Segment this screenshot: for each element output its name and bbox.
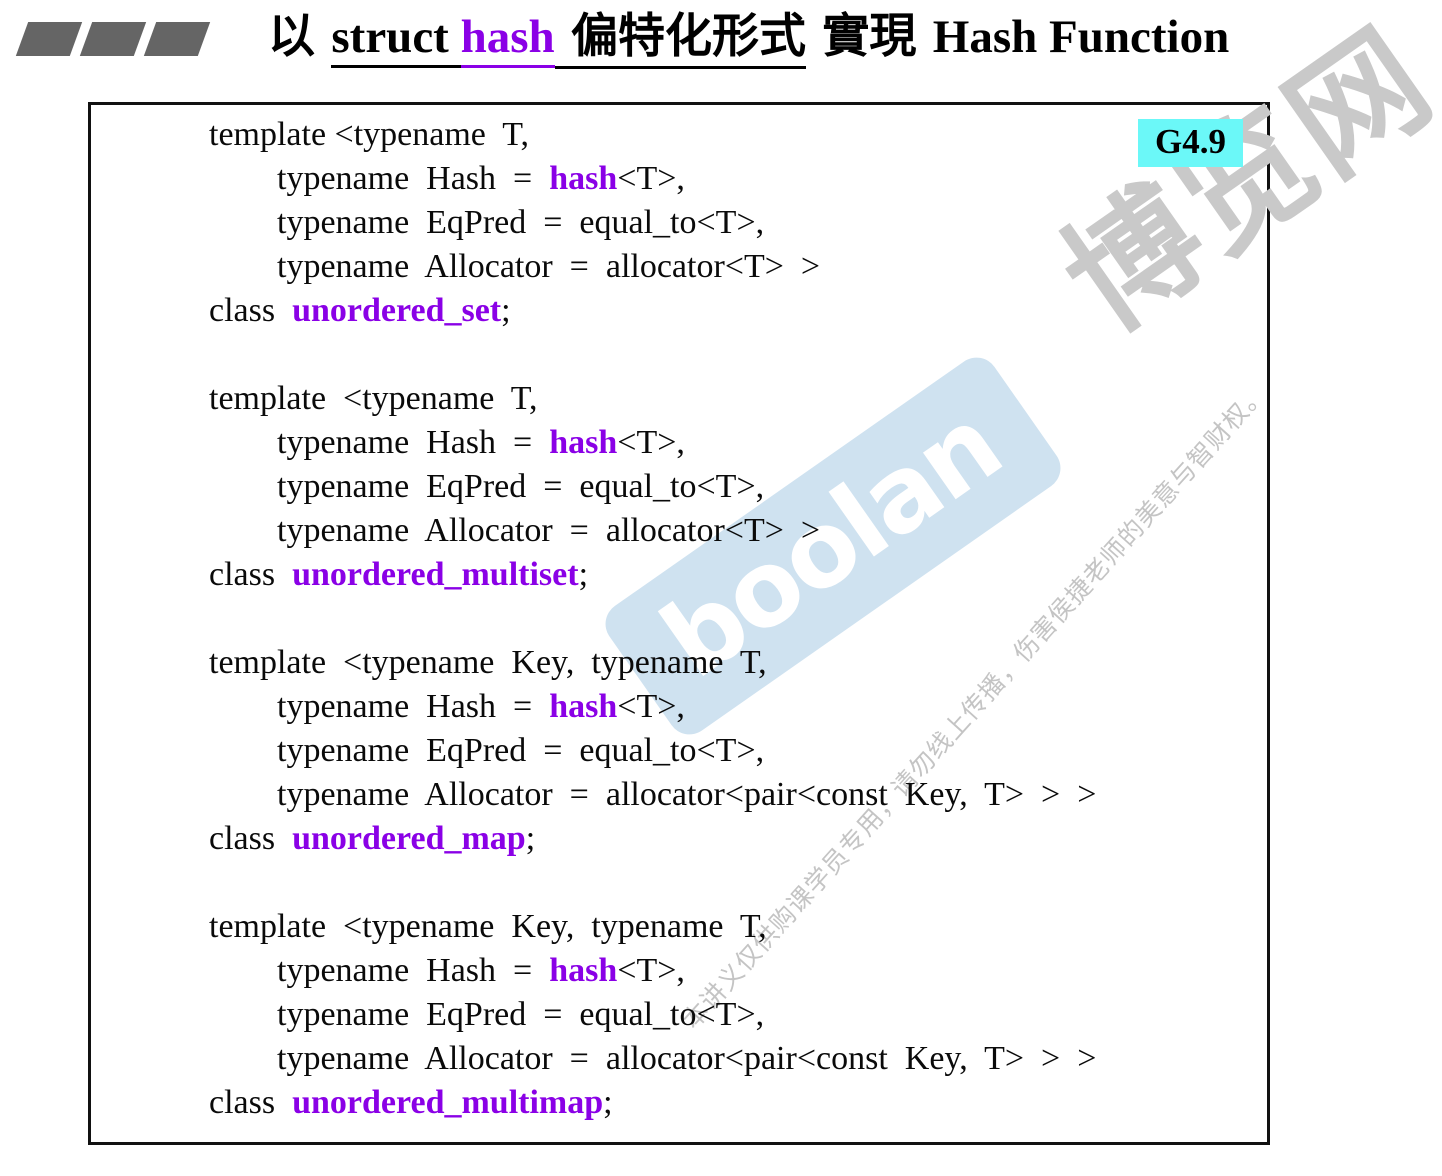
title-bullet-decoration (22, 22, 204, 56)
slide-header: 以 struct hash 偏特化形式 實現 Hash Function (0, 0, 1442, 96)
code-identifier: hash (549, 424, 617, 461)
code-identifier: unordered_map (292, 820, 526, 857)
code-line: typename Hash = hash<T>, (209, 157, 1096, 201)
bullet-square-icon (144, 22, 210, 56)
title-underlined-cjk: 偏特化形式 (555, 9, 806, 69)
code-text: class (209, 820, 292, 857)
code-line: typename Allocator = allocator<T> > (209, 509, 1096, 553)
code-identifier: unordered_set (292, 292, 501, 329)
code-text: typename Hash = (209, 952, 549, 989)
code-line: typename Allocator = allocator<pair<cons… (209, 773, 1096, 817)
code-line: class unordered_multimap; (209, 1081, 1096, 1125)
title-suffix-cjk: 實現 (806, 9, 933, 64)
code-line: typename EqPred = equal_to<T>, (209, 465, 1096, 509)
code-text: typename Hash = (209, 160, 549, 197)
code-line: template <typename T, (209, 377, 1096, 421)
code-text: class (209, 1084, 292, 1121)
page-title: 以 struct hash 偏特化形式 實現 Hash Function (268, 8, 1229, 67)
code-text: <T>, (617, 952, 685, 989)
code-text: typename Allocator = allocator<T> > (209, 248, 820, 285)
code-text: typename EqPred = equal_to<T>, (209, 732, 764, 769)
code-text: ; (526, 820, 535, 857)
code-line: class unordered_multiset; (209, 553, 1096, 597)
code-block-unordered_multiset: template <typename T, typename Hash = ha… (209, 377, 1096, 597)
code-line: typename EqPred = equal_to<T>, (209, 201, 1096, 245)
code-text: <T>, (617, 688, 685, 725)
code-line: class unordered_map; (209, 817, 1096, 861)
code-text: typename EqPred = equal_to<T>, (209, 996, 764, 1033)
code-text: ; (603, 1084, 612, 1121)
code-listing: template <typename T, typename Hash = ha… (209, 113, 1096, 1125)
code-text: <T>, (617, 160, 685, 197)
code-identifier: hash (549, 688, 617, 725)
code-text: typename Allocator = allocator<pair<cons… (209, 1040, 1096, 1077)
title-prefix: 以 (268, 9, 331, 64)
bullet-square-icon (16, 22, 82, 56)
code-block-unordered_set: template <typename T, typename Hash = ha… (209, 113, 1096, 333)
code-text: template <typename T, (209, 116, 529, 153)
title-keyword-struct: struct (331, 11, 460, 68)
bullet-square-icon (80, 22, 146, 56)
code-text: template <typename Key, typename T, (209, 908, 767, 945)
code-line: template <typename T, (209, 113, 1096, 157)
code-identifier: unordered_multiset (292, 556, 578, 593)
code-text: ; (579, 556, 588, 593)
code-line: typename Allocator = allocator<T> > (209, 245, 1096, 289)
code-line: template <typename Key, typename T, (209, 641, 1096, 685)
code-identifier: hash (549, 952, 617, 989)
code-line: template <typename Key, typename T, (209, 905, 1096, 949)
code-line: typename Hash = hash<T>, (209, 685, 1096, 729)
code-text: template <typename Key, typename T, (209, 644, 767, 681)
code-line: typename EqPred = equal_to<T>, (209, 993, 1096, 1037)
code-text: class (209, 556, 292, 593)
code-text: typename Hash = (209, 688, 549, 725)
code-text: typename EqPred = equal_to<T>, (209, 204, 764, 241)
code-block-unordered_multimap: template <typename Key, typename T, type… (209, 905, 1096, 1125)
code-text: typename Allocator = allocator<pair<cons… (209, 776, 1096, 813)
status-badge: G4.9 (1138, 119, 1243, 167)
code-text: typename Hash = (209, 424, 549, 461)
code-text: typename EqPred = equal_to<T>, (209, 468, 764, 505)
code-line: typename Hash = hash<T>, (209, 421, 1096, 465)
code-text: typename Allocator = allocator<T> > (209, 512, 820, 549)
code-identifier: hash (549, 160, 617, 197)
code-text: template <typename T, (209, 380, 538, 417)
code-identifier: unordered_multimap (292, 1084, 603, 1121)
code-line: typename Hash = hash<T>, (209, 949, 1096, 993)
code-line: typename EqPred = equal_to<T>, (209, 729, 1096, 773)
code-text: class (209, 292, 292, 329)
code-text: ; (501, 292, 510, 329)
code-line: class unordered_set; (209, 289, 1096, 333)
code-text: <T>, (617, 424, 685, 461)
title-keyword-hash: hash (461, 11, 555, 68)
code-block-unordered_map: template <typename Key, typename T, type… (209, 641, 1096, 861)
code-line: typename Allocator = allocator<pair<cons… (209, 1037, 1096, 1081)
title-suffix-latin: Hash Function (933, 11, 1229, 63)
code-listing-box: G4.9 template <typename T, typename Hash… (88, 102, 1270, 1145)
